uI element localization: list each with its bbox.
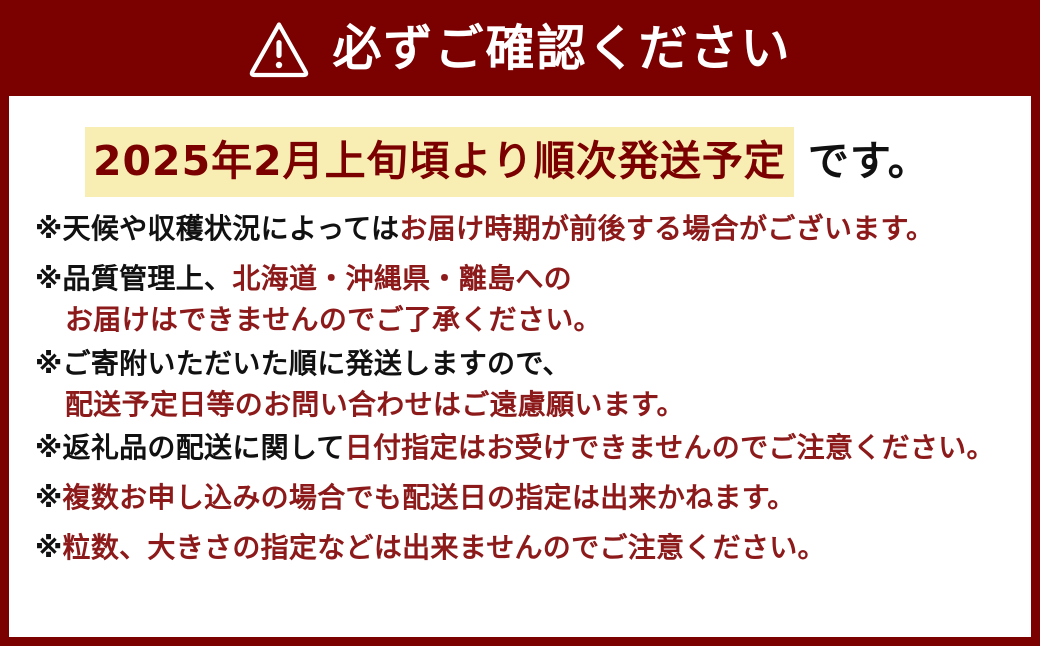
shipping-schedule-line: 2025年2月上旬頃より順次発送予定です。 xyxy=(35,140,1005,183)
note-bullet-mark: ※ xyxy=(35,262,63,295)
note-item: ※粒数、大きさの指定などは出来ませんのでご注意ください。 xyxy=(35,528,1005,567)
note-text-segment: 複数お申し込みの場合でも配送日の指定は出来かねます。 xyxy=(63,481,796,514)
note-line-primary: ※返礼品の配送に関して日付指定はお受けできませんのでご注意ください。 xyxy=(35,431,995,464)
shipping-notice-card: 必ずご確認ください 2025年2月上旬頃より順次発送予定です。 ※天候や収穫状況… xyxy=(0,0,1040,646)
note-bullet-mark: ※ xyxy=(35,347,63,380)
note-item: ※複数お申し込みの場合でも配送日の指定は出来かねます。 xyxy=(35,478,1005,517)
note-bullet-mark: ※ xyxy=(35,431,63,464)
note-line-continuation: 配送予定日等のお問い合わせはご遠慮願います。 xyxy=(35,385,1005,424)
note-text-segment: お届け時期が前後する場合がございます。 xyxy=(399,212,934,245)
note-item: ※返礼品の配送に関して日付指定はお受けできませんのでご注意ください。 xyxy=(35,428,1005,467)
note-bullet-mark: ※ xyxy=(35,531,63,564)
shipping-schedule-suffix: です。 xyxy=(808,137,930,185)
note-line-primary: ※複数お申し込みの場合でも配送日の指定は出来かねます。 xyxy=(35,481,796,514)
note-item: ※ご寄附いただいた順に発送しますので、配送予定日等のお問い合わせはご遠慮願います… xyxy=(35,344,1005,424)
notice-header: 必ずご確認ください xyxy=(0,0,1040,96)
warning-triangle-icon xyxy=(248,20,310,78)
note-item: ※天候や収穫状況によってはお届け時期が前後する場合がございます。 xyxy=(35,209,1005,248)
note-bullet-mark: ※ xyxy=(35,212,63,245)
note-text-segment: 返礼品の配送に関して xyxy=(63,431,345,464)
notice-body: 2025年2月上旬頃より順次発送予定です。 ※天候や収穫状況によってはお届け時期… xyxy=(9,96,1031,637)
note-bullet-mark: ※ xyxy=(35,481,63,514)
note-line-primary: ※粒数、大きさの指定などは出来ませんのでご注意ください。 xyxy=(35,531,826,564)
note-line-continuation: お届けはできませんのでご了承ください。 xyxy=(35,300,1005,339)
notes-list: ※天候や収穫状況によってはお届け時期が前後する場合がございます。※品質管理上、北… xyxy=(35,209,1005,568)
note-text-segment: 日付指定はお受けできませんのでご注意ください。 xyxy=(345,431,995,464)
note-text-segment: 配送予定日等のお問い合わせはご遠慮願います。 xyxy=(65,388,685,421)
shipping-schedule-highlight: 2025年2月上旬頃より順次発送予定 xyxy=(85,127,794,197)
note-text-segment: 品質管理上、 xyxy=(63,262,233,295)
note-text-segment: 北海道・沖縄県・離島への xyxy=(232,262,572,295)
note-line-primary: ※品質管理上、北海道・沖縄県・離島への xyxy=(35,262,572,295)
note-text-segment: 粒数、大きさの指定などは出来ませんのでご注意ください。 xyxy=(63,531,826,564)
note-line-primary: ※天候や収穫状況によってはお届け時期が前後する場合がございます。 xyxy=(35,212,934,245)
note-text-segment: 天候や収穫状況によっては xyxy=(63,212,400,245)
note-text-segment: お届けはできませんのでご了承ください。 xyxy=(65,303,602,336)
note-text-segment: ご寄附いただいた順に発送しますので、 xyxy=(63,347,571,380)
note-item: ※品質管理上、北海道・沖縄県・離島へのお届けはできませんのでご了承ください。 xyxy=(35,259,1005,339)
page-title: 必ずご確認ください xyxy=(332,24,791,73)
note-line-primary: ※ご寄附いただいた順に発送しますので、 xyxy=(35,347,571,380)
